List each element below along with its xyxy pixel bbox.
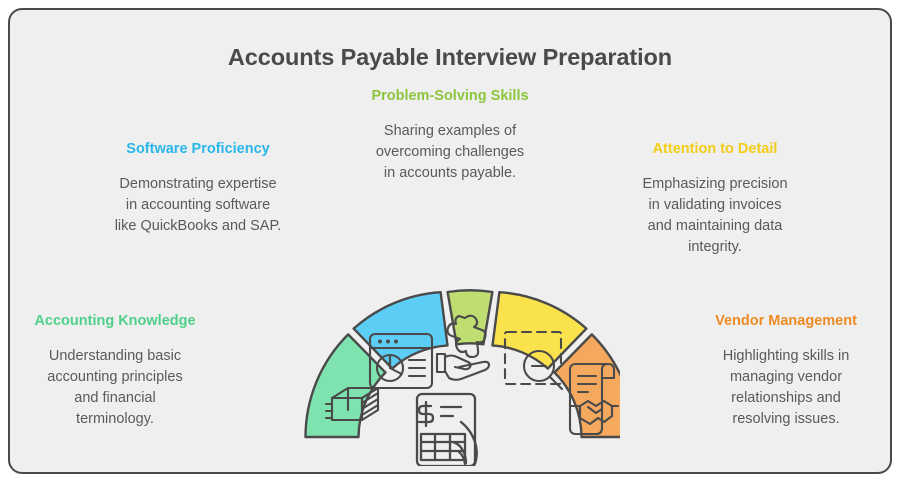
segment-body-problem-solving-skills: Sharing examples of overcoming challenge… — [332, 121, 568, 184]
segment-heading-attention-to-detail: Attention to Detail — [596, 140, 834, 158]
center-invoice-in-hand-icon — [417, 394, 477, 466]
segment-heading-vendor-management: Vendor Management — [678, 312, 894, 330]
segment-heading-problem-solving-skills: Problem-Solving Skills — [332, 87, 568, 105]
infographic-canvas: Accounts Payable Interview Preparation A… — [0, 0, 900, 485]
segment-label-attention-to-detail: Attention to Detail Emphasizing precisio… — [596, 140, 834, 258]
segment-label-problem-solving-skills: Problem-Solving Skills Sharing examples … — [332, 87, 568, 184]
semicircle-chart — [280, 216, 620, 466]
segment-body-vendor-management: Highlighting skills in managing vendor r… — [678, 346, 894, 430]
segment-label-vendor-management: Vendor Management Highlighting skills in… — [678, 312, 894, 430]
segment-label-accounting-knowledge: Accounting Knowledge Understanding basic… — [8, 312, 222, 430]
segment-body-attention-to-detail: Emphasizing precision in validating invo… — [596, 174, 834, 258]
segment-body-accounting-knowledge: Understanding basic accounting principle… — [8, 346, 222, 430]
segment-heading-accounting-knowledge: Accounting Knowledge — [8, 312, 222, 330]
segment-heading-software-proficiency: Software Proficiency — [78, 140, 318, 158]
page-title: Accounts Payable Interview Preparation — [0, 44, 900, 71]
